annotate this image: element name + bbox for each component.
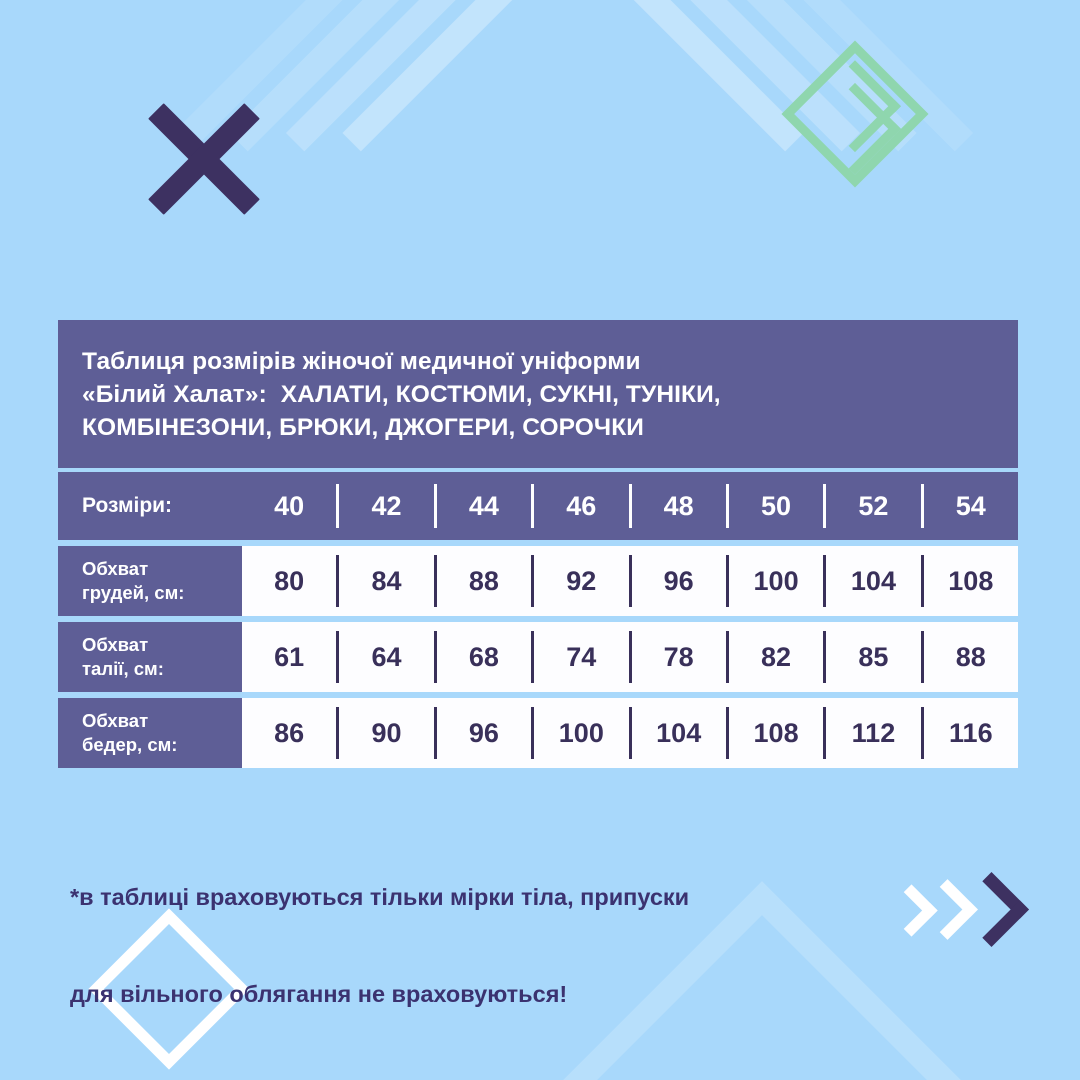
header-size-cell: 42 (336, 484, 433, 528)
header-size-cell: 52 (823, 484, 920, 528)
poster-canvas: Таблиця розмірів жіночої медичної уніфор… (0, 0, 1080, 1080)
table-title-block: Таблиця розмірів жіночої медичної уніфор… (58, 320, 1018, 468)
row-value-cells: 61 64 68 74 78 82 85 88 (242, 622, 1018, 692)
row-label-line-1: Обхват (82, 557, 242, 581)
table-cell: 85 (823, 631, 920, 683)
footnote-line-1: *в таблиці враховуються тільки мірки тіл… (70, 881, 950, 913)
table-cell: 64 (336, 631, 433, 683)
table-cell: 92 (531, 555, 628, 607)
table-cell: 78 (629, 631, 726, 683)
row-label-line-2: бедер, см: (82, 733, 242, 757)
row-label-line-2: грудей, см: (82, 581, 242, 605)
table-cell: 112 (823, 707, 920, 759)
table-cell: 84 (336, 555, 433, 607)
table-cell: 116 (921, 707, 1018, 759)
footnote-line-2: для вільного облягання не враховуються! (70, 978, 950, 1010)
table-cell: 104 (823, 555, 920, 607)
table-row: Обхват талії, см: 61 64 68 74 78 82 85 8… (58, 622, 1018, 692)
table-row: Обхват бедер, см: 86 90 96 100 104 108 1… (58, 698, 1018, 768)
table-cell: 100 (726, 555, 823, 607)
table-cell: 88 (921, 631, 1018, 683)
row-value-cells: 86 90 96 100 104 108 112 116 (242, 698, 1018, 768)
header-size-cell: 54 (921, 484, 1018, 528)
table-cell: 96 (629, 555, 726, 607)
table-cell: 108 (921, 555, 1018, 607)
header-size-cell: 50 (726, 484, 823, 528)
header-label-sizes: Розміри: (58, 494, 242, 518)
header-size-cell: 40 (242, 484, 336, 528)
table-header-row: Розміри: 40 42 44 46 48 50 52 54 (58, 472, 1018, 540)
footnote: *в таблиці враховуються тільки мірки тіл… (70, 816, 950, 1075)
row-value-cells: 80 84 88 92 96 100 104 108 (242, 546, 1018, 616)
table-title-line-1: Таблиця розмірів жіночої медичної уніфор… (82, 346, 994, 379)
table-row: Обхват грудей, см: 80 84 88 92 96 100 10… (58, 546, 1018, 616)
header-size-cell: 46 (531, 484, 628, 528)
table-cell: 88 (434, 555, 531, 607)
row-label-line-1: Обхват (82, 633, 242, 657)
table-title-line-2: «Білий Халат»: ХАЛАТИ, КОСТЮМИ, СУКНІ, Т… (82, 379, 994, 412)
row-label-bust: Обхват грудей, см: (58, 546, 242, 616)
table-cell: 61 (242, 631, 336, 683)
header-size-cell: 48 (629, 484, 726, 528)
row-label-hips: Обхват бедер, см: (58, 698, 242, 768)
table-cell: 82 (726, 631, 823, 683)
table-cell: 74 (531, 631, 628, 683)
green-nested-diamond-icon (781, 40, 928, 187)
table-cell: 108 (726, 707, 823, 759)
table-cell: 104 (629, 707, 726, 759)
table-cell: 100 (531, 707, 628, 759)
row-label-line-1: Обхват (82, 709, 242, 733)
row-label-line-2: талії, см: (82, 657, 242, 681)
chevron-icon-3 (954, 872, 1029, 947)
header-size-cell: 44 (434, 484, 531, 528)
table-cell: 80 (242, 555, 336, 607)
table-cell: 86 (242, 707, 336, 759)
table-title-line-3: КОМБІНЕЗОНИ, БРЮКИ, ДЖОГЕРИ, СОРОЧКИ (82, 412, 994, 445)
size-table: Таблиця розмірів жіночої медичної уніфор… (58, 320, 1018, 768)
table-cell: 90 (336, 707, 433, 759)
watermark-chevron-1 (342, 0, 803, 364)
table-cell: 68 (434, 631, 531, 683)
table-cell: 96 (434, 707, 531, 759)
x-mark-icon (150, 105, 258, 213)
header-size-cells: 40 42 44 46 48 50 52 54 (242, 484, 1018, 528)
row-label-waist: Обхват талії, см: (58, 622, 242, 692)
